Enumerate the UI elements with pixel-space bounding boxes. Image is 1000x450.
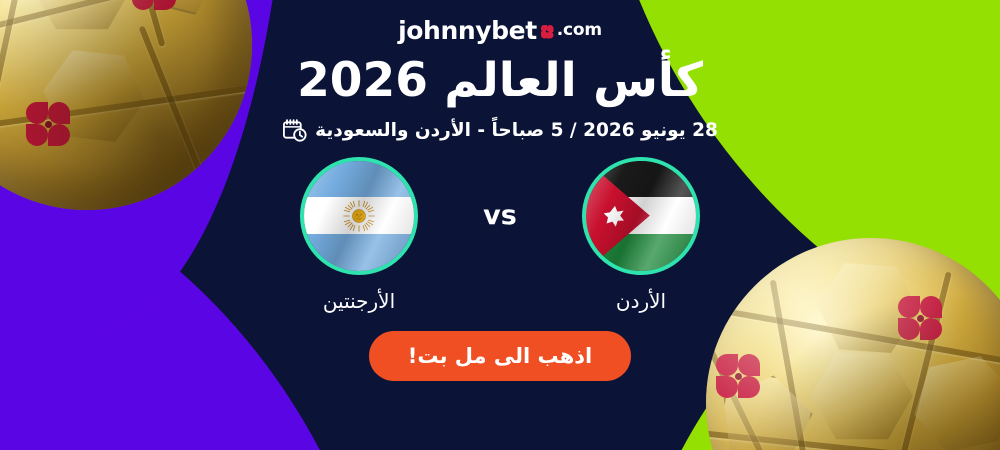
seven-pointed-star-icon [604, 205, 626, 227]
vs-label: vs [454, 157, 546, 275]
cta-button[interactable]: اذهب الى مل بت! [369, 331, 631, 381]
page-title: كأس العالم 2026 [297, 55, 703, 108]
team-away: الأردن [546, 157, 736, 313]
banner-content: johnnybet .com كأس العالم 2026 28 يونيو … [0, 0, 1000, 450]
team-home-name: الأرجنتين [323, 289, 395, 313]
team-away-name: الأردن [616, 289, 666, 313]
promo-banner: johnnybet .com كأس العالم 2026 28 يونيو … [0, 0, 1000, 450]
match-teams: الأرجنتين vs الأردن [264, 157, 736, 313]
team-home: الأرجنتين [264, 157, 454, 313]
clover-icon [541, 25, 554, 38]
logo-tld: .com [557, 22, 602, 39]
johnnybet-logo[interactable]: johnnybet .com [398, 18, 602, 43]
sun-of-may-icon [342, 199, 376, 233]
argentina-flag-icon [300, 157, 418, 275]
match-schedule: 28 يونيو 2026 / 5 صباحاً - الأردن والسعو… [282, 118, 718, 143]
schedule-text: 28 يونيو 2026 / 5 صباحاً - الأردن والسعو… [315, 120, 718, 141]
logo-wordmark: johnnybet [398, 18, 537, 43]
calendar-clock-icon [282, 118, 307, 143]
jordan-flag-icon [582, 157, 700, 275]
